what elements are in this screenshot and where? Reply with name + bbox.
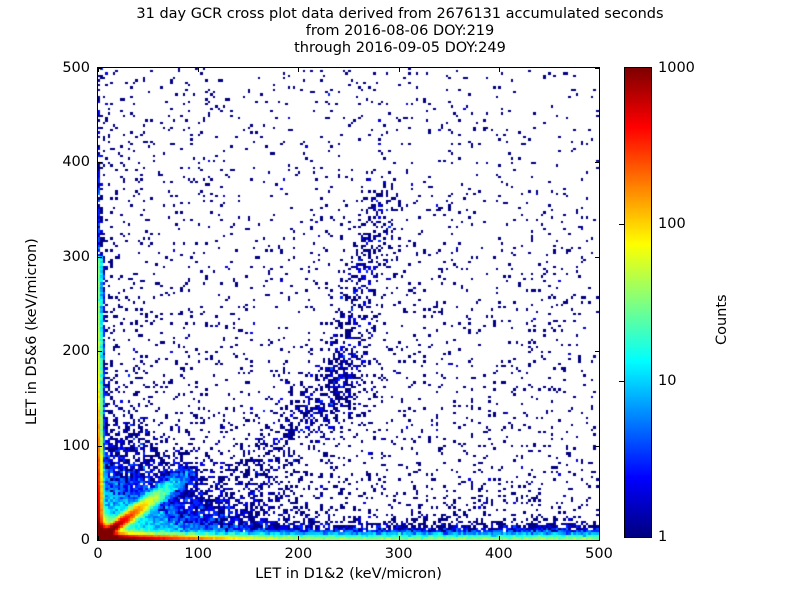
x-tick-top-400 xyxy=(499,68,500,72)
x-tick-label-400: 400 xyxy=(485,546,513,562)
x-tick-top-300 xyxy=(399,68,400,72)
colorbar-tick-label-1: 1 xyxy=(658,529,667,545)
title-line-3: through 2016-09-05 DOY:249 xyxy=(0,40,800,57)
y-tick-right-0 xyxy=(595,540,599,541)
colorbar-gradient xyxy=(624,67,652,538)
x-tick-top-100 xyxy=(198,68,199,72)
y-tick-label-300: 300 xyxy=(62,249,90,265)
y-tick-right-400 xyxy=(595,162,599,163)
x-tick-200 xyxy=(298,536,299,540)
scatter-heatmap-data xyxy=(98,68,599,540)
title-line-2: from 2016-08-06 DOY:219 xyxy=(0,23,800,40)
x-tick-label-100: 100 xyxy=(184,546,212,562)
y-tick-right-300 xyxy=(595,257,599,258)
y-tick-0 xyxy=(98,540,102,541)
plot-axes xyxy=(97,67,600,541)
x-axis-label: LET in D1&2 (keV/micron) xyxy=(0,566,697,582)
colorbar-tick-label-1000: 1000 xyxy=(658,60,695,76)
x-tick-100 xyxy=(198,536,199,540)
y-tick-100 xyxy=(98,446,102,447)
y-tick-300 xyxy=(98,257,102,258)
y-tick-500 xyxy=(98,68,102,69)
y-tick-label-200: 200 xyxy=(62,343,90,359)
x-tick-label-0: 0 xyxy=(93,546,102,562)
y-tick-label-100: 100 xyxy=(62,438,90,454)
colorbar-tick-label-100: 100 xyxy=(658,216,686,232)
x-tick-400 xyxy=(499,536,500,540)
y-tick-400 xyxy=(98,162,102,163)
colorbar: 1101001000 xyxy=(624,67,652,538)
y-tick-label-0: 0 xyxy=(81,532,90,548)
y-tick-label-500: 500 xyxy=(62,60,90,76)
figure-canvas: 31 day GCR cross plot data derived from … xyxy=(0,0,800,600)
y-tick-label-400: 400 xyxy=(62,154,90,170)
colorbar-tick-label-10: 10 xyxy=(658,373,676,389)
colorbar-tick-10 xyxy=(619,381,624,382)
title-line-1: 31 day GCR cross plot data derived from … xyxy=(0,6,800,23)
x-tick-label-300: 300 xyxy=(385,546,413,562)
y-tick-200 xyxy=(98,351,102,352)
x-tick-label-200: 200 xyxy=(285,546,313,562)
colorbar-canvas xyxy=(625,68,651,537)
x-tick-300 xyxy=(399,536,400,540)
x-tick-label-500: 500 xyxy=(585,546,613,562)
y-axis-label: LET in D5&6 (keV/micron) xyxy=(24,409,40,425)
colorbar-tick-100 xyxy=(619,224,624,225)
x-tick-500 xyxy=(599,536,600,540)
y-tick-right-500 xyxy=(595,68,599,69)
x-tick-top-500 xyxy=(599,68,600,72)
y-tick-right-100 xyxy=(595,446,599,447)
x-tick-top-200 xyxy=(298,68,299,72)
y-tick-right-200 xyxy=(595,351,599,352)
colorbar-title: Counts xyxy=(714,294,730,345)
plot-title: 31 day GCR cross plot data derived from … xyxy=(0,6,800,57)
